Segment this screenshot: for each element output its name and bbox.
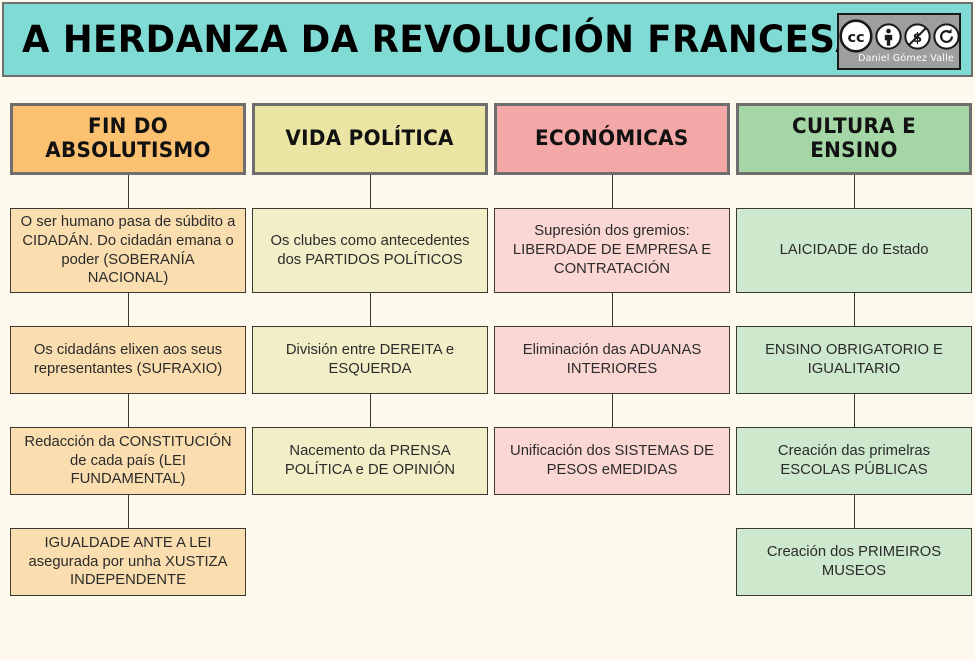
node-label: Creación das primelras ESCOLAS PÚBLICAS <box>746 442 962 480</box>
connector-line <box>370 394 371 427</box>
column-header-label: FIN DO ABSOLUTISMO <box>26 115 229 162</box>
attribution-person-icon <box>875 23 902 50</box>
column-vida-politica: VIDA POLÍTICA Os clubes como antecedente… <box>252 78 488 495</box>
node-label: IGUALDADE ANTE A LEI asegurada por unha … <box>20 534 236 591</box>
node-label: División entre DEREITA e ESQUERDA <box>262 341 478 379</box>
node-label: Unificación dos SISTEMAS DE PESOS eMEDID… <box>504 442 720 480</box>
node-box[interactable]: Nacemento da PRENSA POLÍTICA e DE OPINIÓ… <box>252 427 488 495</box>
column-header-label: ECONÓMICAS <box>535 127 688 151</box>
node-label: Supresión dos gremios: LIBERDADE DE EMPR… <box>504 222 720 279</box>
connector-line <box>854 394 855 427</box>
node-box[interactable]: IGUALDADE ANTE A LEI asegurada por unha … <box>10 528 246 596</box>
license-author-name: Daniel Gómez Valle <box>839 53 959 64</box>
node-box[interactable]: Unificación dos SISTEMAS DE PESOS eMEDID… <box>494 427 730 495</box>
node-box[interactable]: Redacción da CONSTITUCIÓN de cada país (… <box>10 427 246 495</box>
page-banner: A HERDANZA DA REVOLUCIÓN FRANCESA cc <box>2 2 973 77</box>
node-label: LAICIDADE do Estado <box>780 241 929 260</box>
page-title: A HERDANZA DA REVOLUCIÓN FRANCESA <box>22 18 863 61</box>
node-box[interactable]: ENSINO OBRIGATORIO E IGUALITARIO <box>736 326 972 394</box>
connector-line <box>128 175 129 208</box>
node-label: ENSINO OBRIGATORIO E IGUALITARIO <box>746 341 962 379</box>
connector-line <box>128 293 129 326</box>
diagram-board: FIN DO ABSOLUTISMO O ser humano pasa de … <box>0 78 975 660</box>
node-box[interactable]: Creación dos PRIMEIROS MUSEOS <box>736 528 972 596</box>
node-box[interactable]: O ser humano pasa de súbdito a CIDADÁN. … <box>10 208 246 293</box>
node-box[interactable]: Creación das primelras ESCOLAS PÚBLICAS <box>736 427 972 495</box>
license-icon-row: cc $ <box>839 18 959 54</box>
column-header-label: VIDA POLÍTICA <box>286 127 454 151</box>
node-label: O ser humano pasa de súbdito a CIDADÁN. … <box>20 213 236 289</box>
node-box[interactable]: Eliminación das ADUANAS INTERIORES <box>494 326 730 394</box>
column-header-vida-politica[interactable]: VIDA POLÍTICA <box>252 103 488 175</box>
connector-line <box>854 175 855 208</box>
node-box[interactable]: Os cidadáns elixen aos seus representant… <box>10 326 246 394</box>
connector-line <box>854 293 855 326</box>
creative-commons-license-badge: cc $ <box>837 13 961 70</box>
column-header-fin-do-absolutismo[interactable]: FIN DO ABSOLUTISMO <box>10 103 246 175</box>
column-header-label: CULTURA E ENSINO <box>752 115 955 162</box>
svg-text:cc: cc <box>847 30 864 46</box>
column-header-economicas[interactable]: ECONÓMICAS <box>494 103 730 175</box>
node-label: Nacemento da PRENSA POLÍTICA e DE OPINIÓ… <box>262 442 478 480</box>
node-label: Eliminación das ADUANAS INTERIORES <box>504 341 720 379</box>
sharealike-circle-arrow-icon <box>933 23 960 50</box>
node-box[interactable]: LAICIDADE do Estado <box>736 208 972 293</box>
connector-line <box>612 175 613 208</box>
connector-line <box>612 394 613 427</box>
connector-line <box>370 175 371 208</box>
column-fin-do-absolutismo: FIN DO ABSOLUTISMO O ser humano pasa de … <box>10 78 246 596</box>
node-box[interactable]: División entre DEREITA e ESQUERDA <box>252 326 488 394</box>
connector-line <box>612 293 613 326</box>
connector-line <box>128 495 129 528</box>
node-label: Os clubes como antecedentes dos PARTIDOS… <box>262 232 478 270</box>
node-label: Creación dos PRIMEIROS MUSEOS <box>746 543 962 581</box>
connector-line <box>370 293 371 326</box>
node-box[interactable]: Supresión dos gremios: LIBERDADE DE EMPR… <box>494 208 730 293</box>
connector-line <box>128 394 129 427</box>
node-box[interactable]: Os clubes como antecedentes dos PARTIDOS… <box>252 208 488 293</box>
column-header-cultura-e-ensino[interactable]: CULTURA E ENSINO <box>736 103 972 175</box>
creative-commons-icon: cc <box>839 19 873 53</box>
connector-line <box>854 495 855 528</box>
column-cultura-e-ensino: CULTURA E ENSINO LAICIDADE do Estado ENS… <box>736 78 972 596</box>
node-label: Redacción da CONSTITUCIÓN de cada país (… <box>20 433 236 490</box>
column-economicas: ECONÓMICAS Supresión dos gremios: LIBERD… <box>494 78 730 495</box>
node-label: Os cidadáns elixen aos seus representant… <box>20 341 236 379</box>
noncommercial-dollar-icon: $ <box>904 23 931 50</box>
